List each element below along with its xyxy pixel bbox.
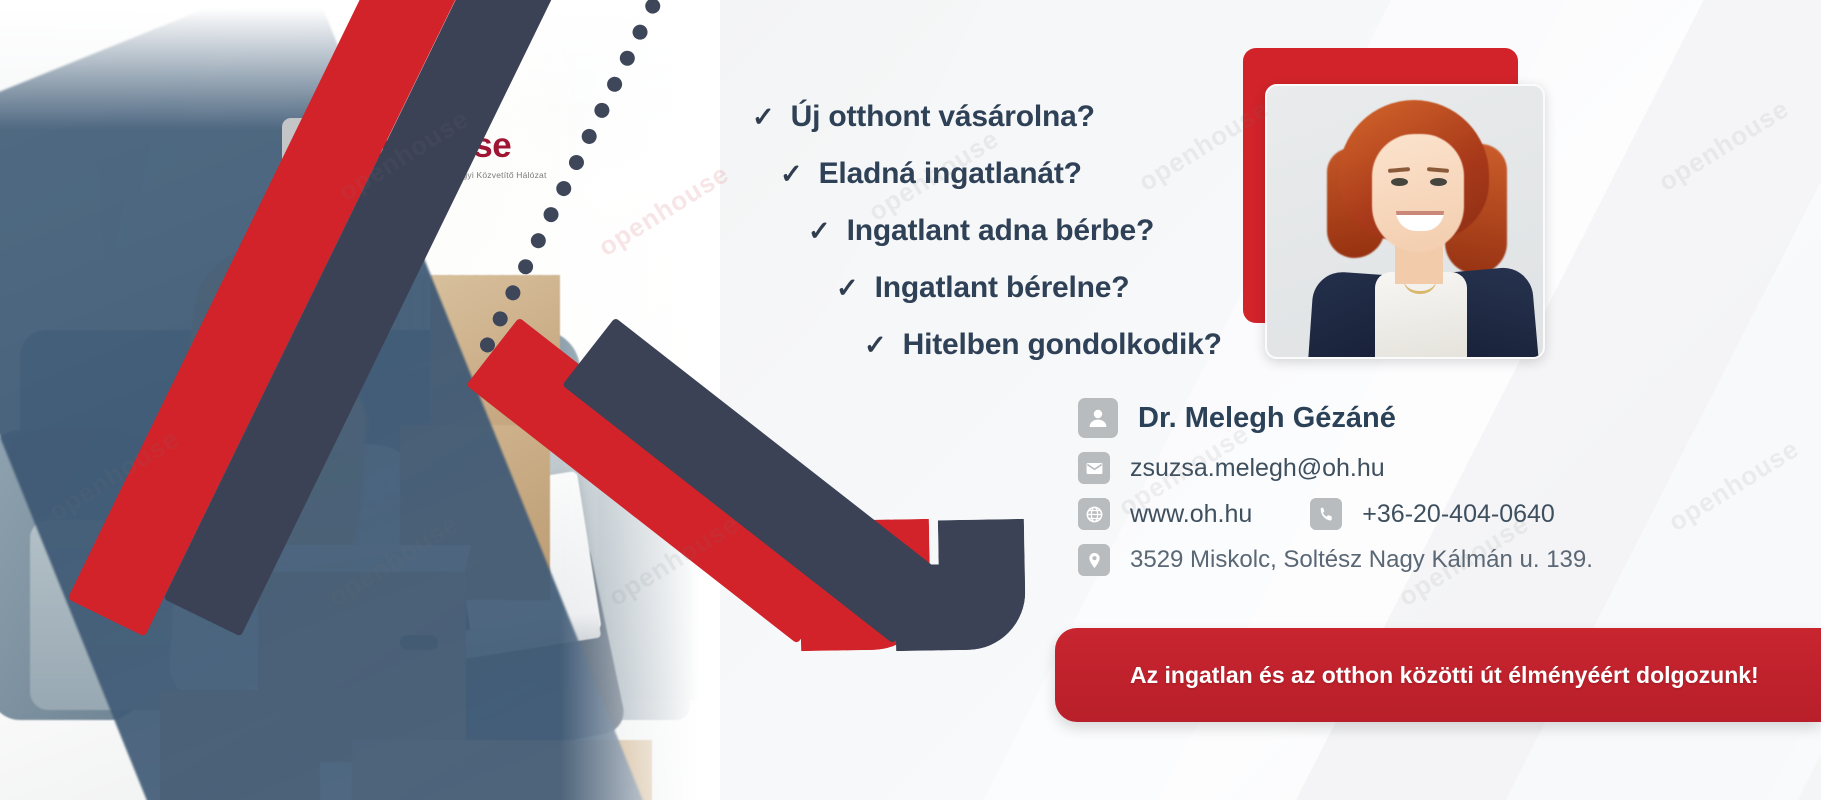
checklist-label: Ingatlant adna bérbe? <box>847 214 1155 248</box>
checklist-label: Ingatlant bérelne? <box>875 271 1130 305</box>
face <box>1372 134 1464 252</box>
checklist-label: Eladná ingatlanát? <box>819 157 1082 191</box>
checklist-label: Hitelben gondolkodik? <box>903 328 1222 362</box>
contact-row-web-phone: www.oh.hu +36-20-404-0640 <box>1078 498 1818 530</box>
banner-canvas: openhouse Ingatlan- és Pénzügyi Közvetít… <box>0 0 1821 800</box>
envelope-icon <box>1078 452 1110 484</box>
agent-portrait <box>1265 84 1545 359</box>
phone-icon <box>1310 498 1342 530</box>
navy-band-elbow <box>894 519 1026 651</box>
eye <box>1391 178 1408 186</box>
contact-row-email[interactable]: zsuzsa.melegh@oh.hu <box>1078 452 1818 484</box>
slogan-text: Az ingatlan és az otthon közötti út élmé… <box>1130 662 1759 689</box>
agent-email[interactable]: zsuzsa.melegh@oh.hu <box>1130 454 1385 483</box>
checklist-label: Új otthont vásárolna? <box>791 100 1095 134</box>
agent-phone[interactable]: +36-20-404-0640 <box>1362 500 1555 529</box>
slogan-banner: Az ingatlan és az otthon közötti út élmé… <box>1055 628 1821 722</box>
location-pin-icon <box>1078 544 1110 576</box>
agent-address: 3529 Miskolc, Soltész Nagy Kálmán u. 139… <box>1130 546 1593 574</box>
check-icon: ✓ <box>864 332 887 359</box>
check-icon: ✓ <box>836 275 859 302</box>
person-icon <box>1078 398 1118 438</box>
globe-icon <box>1078 498 1110 530</box>
check-icon: ✓ <box>780 161 803 188</box>
agent-name: Dr. Melegh Gézáné <box>1138 402 1396 435</box>
check-icon: ✓ <box>752 104 775 131</box>
eye <box>1430 178 1447 186</box>
contact-block: Dr. Melegh Gézáné zsuzsa.melegh@oh.hu ww… <box>1078 398 1818 590</box>
contact-row-address: 3529 Miskolc, Soltész Nagy Kálmán u. 139… <box>1078 544 1818 576</box>
agent-website[interactable]: www.oh.hu <box>1130 500 1252 529</box>
contact-row-name: Dr. Melegh Gézáné <box>1078 398 1818 438</box>
check-icon: ✓ <box>808 218 831 245</box>
